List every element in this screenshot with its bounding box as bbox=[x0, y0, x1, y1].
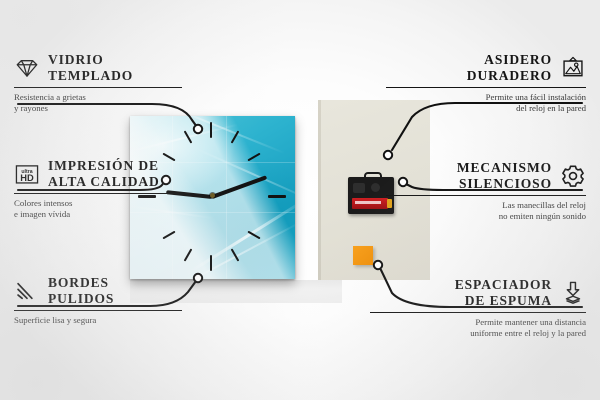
clock-tick bbox=[210, 122, 212, 138]
feature-impresion-alta-calidad[interactable]: ultra HD IMPRESIÓN DE ALTA CALIDAD Color… bbox=[14, 158, 190, 220]
feature-desc-line1: Superficie lisa y segura bbox=[14, 315, 182, 326]
feature-title-line2: PULIDOS bbox=[48, 291, 114, 307]
feature-desc-line1: Resistencia a grietas bbox=[14, 92, 182, 103]
mechanism-detail bbox=[353, 183, 365, 193]
feature-header: BORDES PULIDOS bbox=[14, 275, 182, 307]
feature-divider bbox=[370, 312, 586, 313]
feature-title-line2: ALTA CALIDAD bbox=[48, 174, 160, 190]
feature-title-line1: ASIDERO bbox=[467, 52, 552, 68]
feature-title-line1: BORDES bbox=[48, 275, 114, 291]
clock-tick bbox=[268, 195, 286, 198]
glass-seam bbox=[226, 116, 227, 279]
foam-spacer bbox=[353, 246, 373, 265]
feature-title-line1: IMPRESIÓN DE bbox=[48, 158, 160, 174]
clock-center-cap bbox=[210, 193, 215, 198]
feature-desc-line2: uniforme entre el reloj y la pared bbox=[370, 328, 586, 339]
battery-label bbox=[355, 201, 381, 204]
diagonal-lines-icon bbox=[14, 278, 40, 304]
clock-tick bbox=[162, 231, 175, 240]
feature-desc-line2: no emiten ningún sonido bbox=[386, 211, 586, 222]
clock-tick bbox=[184, 248, 193, 261]
feature-divider bbox=[386, 87, 586, 88]
feature-espaciador-de-espuma[interactable]: ESPACIADOR DE ESPUMA Permite mantener un… bbox=[370, 277, 586, 339]
feature-desc-line1: Permite una fácil instalación bbox=[386, 92, 586, 103]
ultra-hd-icon: ultra HD bbox=[14, 161, 40, 187]
mechanism-detail bbox=[371, 183, 380, 192]
feature-title-line2: DURADERO bbox=[467, 68, 552, 84]
decor-streak bbox=[145, 116, 285, 154]
feature-title-line2: DE ESPUMA bbox=[455, 293, 552, 309]
feature-desc-line2: del reloj en la pared bbox=[386, 103, 586, 114]
decor-streak bbox=[185, 199, 295, 276]
feature-desc-line2: y rayones bbox=[14, 103, 182, 114]
arrow-down-pad-icon bbox=[560, 280, 586, 306]
picture-frame-icon bbox=[560, 55, 586, 81]
feature-desc-line1: Las manecillas del reloj bbox=[386, 200, 586, 211]
clock-tick bbox=[247, 153, 260, 162]
feature-title-line1: ESPACIADOR bbox=[455, 277, 552, 293]
feature-title-line2: TEMPLADO bbox=[48, 68, 133, 84]
feature-title-line1: MECANISMO bbox=[457, 160, 552, 176]
feature-divider bbox=[386, 195, 586, 196]
feature-title-line1: VIDRIO bbox=[48, 52, 133, 68]
feature-header: ASIDERO DURADERO bbox=[386, 52, 586, 84]
feature-desc-line1: Permite mantener una distancia bbox=[370, 317, 586, 328]
feature-header: ESPACIADOR DE ESPUMA bbox=[370, 277, 586, 309]
feature-header: MECANISMO SILENCIOSO bbox=[386, 160, 586, 192]
feature-divider bbox=[14, 310, 182, 311]
ultra-hd-icon-main-label: HD bbox=[20, 173, 34, 183]
feature-header: VIDRIO TEMPLADO bbox=[14, 52, 182, 84]
feature-asidero-duradero[interactable]: ASIDERO DURADERO Permite una fácil insta… bbox=[386, 52, 586, 114]
feature-divider bbox=[14, 193, 190, 194]
feature-header: ultra HD IMPRESIÓN DE ALTA CALIDAD bbox=[14, 158, 190, 190]
feature-vidrio-templado[interactable]: VIDRIO TEMPLADO Resistencia a grietas y … bbox=[14, 52, 182, 114]
feature-desc-line2: e imagen vívida bbox=[14, 209, 190, 220]
feature-mecanismo-silencioso[interactable]: MECANISMO SILENCIOSO Las manecillas del … bbox=[386, 160, 586, 222]
feature-divider bbox=[14, 87, 182, 88]
diamond-icon bbox=[14, 55, 40, 81]
infographic-canvas: VIDRIO TEMPLADO Resistencia a grietas y … bbox=[0, 0, 600, 400]
clock-tick bbox=[210, 255, 212, 271]
feature-desc-line1: Colores intensos bbox=[14, 198, 190, 209]
clock-minute-hand bbox=[211, 175, 267, 199]
gear-icon bbox=[560, 163, 586, 189]
wall-edge bbox=[318, 100, 321, 280]
feature-bordes-pulidos[interactable]: BORDES PULIDOS Superficie lisa y segura bbox=[14, 275, 182, 326]
feature-title-line2: SILENCIOSO bbox=[457, 176, 552, 192]
